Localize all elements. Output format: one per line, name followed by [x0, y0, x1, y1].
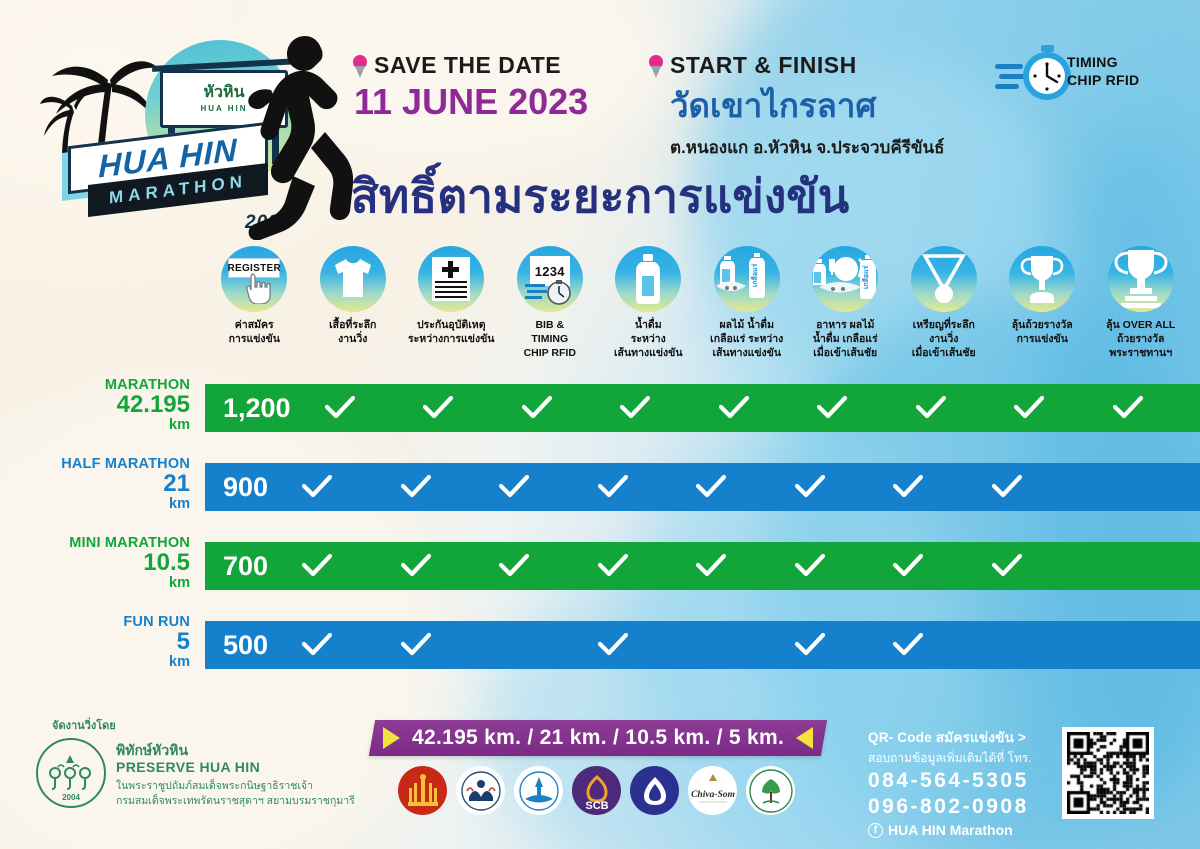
race-distance: 42.195	[10, 393, 190, 418]
benefit-column-label: อาหาร ผลไม้น้ำดื่ม เกลือแร่เมื่อเข้าเส้น…	[790, 319, 900, 361]
benefit-cell	[465, 475, 564, 499]
facebook-link[interactable]: f HUA HIN Marathon	[868, 822, 1032, 838]
timing-chip-badge: TIMING CHIP RFID	[995, 42, 1180, 112]
race-row: HALF MARATHON21km900	[0, 463, 1200, 511]
benefit-cell	[268, 554, 367, 578]
svg-text:SCB: SCB	[585, 800, 608, 812]
checkmark-icon	[401, 475, 431, 499]
benefit-column-11: FINISHERFINISHERRACE SHIRT	[1190, 246, 1200, 376]
food-finish-icon: เกลือแร่	[812, 246, 878, 312]
checkmark-icon	[620, 396, 650, 420]
benefit-cell	[958, 633, 1057, 657]
checkmark-icon	[916, 396, 946, 420]
register-icon: REGISTER	[221, 246, 287, 312]
benefit-cell	[662, 554, 761, 578]
benefit-cell	[1177, 396, 1200, 420]
benefit-cell	[882, 396, 981, 420]
race-name: FUN RUN	[10, 615, 190, 630]
hua-hin-municipality-logo	[514, 766, 563, 815]
contact-info-label: สอบถามข้อมูลเพิ่มเติมได้ที่ โทร.	[868, 749, 1032, 768]
checkmark-icon	[992, 475, 1022, 499]
checkmark-icon	[401, 633, 431, 657]
timing-chip-line1: TIMING	[1067, 54, 1139, 72]
checkmark-icon	[795, 554, 825, 578]
water-bottle-icon	[615, 246, 681, 312]
benefit-column-label: ค่าสมัครการแข่งขัน	[199, 319, 309, 347]
race-label: HALF MARATHON21km	[10, 457, 190, 512]
patronage-line-2: กรมสมเด็จพระเทพรัตนราชสุดาฯ สยามบรมราชกุ…	[116, 794, 355, 809]
benefit-cell	[465, 633, 564, 657]
checkmark-icon	[423, 396, 453, 420]
save-the-date-label: SAVE THE DATE	[352, 52, 588, 79]
race-bar: 500	[205, 621, 1200, 669]
bib-stopwatch-icon	[525, 280, 577, 306]
checkmark-icon	[325, 396, 355, 420]
svg-text:เกลือแร่: เกลือแร่	[751, 263, 759, 287]
trophy-icon	[1009, 246, 1075, 312]
benefit-column-label: ผลไม้ น้ำดื่มเกลือแร่ ระหว่างเส้นทางแข่ง…	[692, 319, 802, 361]
triangle-right-icon	[383, 727, 400, 749]
checkmark-icon	[302, 475, 332, 499]
checkmark-icon	[893, 633, 923, 657]
benefit-cell	[1079, 396, 1178, 420]
map-pin-icon	[648, 55, 664, 79]
qr-code-label: QR- Code สมัครแข่งขัน >	[868, 726, 1032, 748]
benefit-cell	[564, 475, 663, 499]
seal-year: 2004	[62, 793, 80, 802]
benefit-cell	[586, 396, 685, 420]
pointing-hand-icon	[241, 272, 271, 304]
thai-script-seal-icon	[44, 753, 98, 793]
checkmark-icon	[499, 475, 529, 499]
checkmark-icon	[719, 396, 749, 420]
checkmark-icon	[598, 633, 628, 657]
phone-number-2[interactable]: 096-802-0908	[868, 794, 1032, 820]
organizer-block: จัดงานวิ่งโดย 2004 พิทักษ์หัวหิน PRESERV…	[36, 716, 386, 809]
benefit-cell	[367, 633, 466, 657]
checkmark-icon	[893, 475, 923, 499]
rakluke-forest-logo	[746, 766, 795, 815]
benefit-cell	[367, 554, 466, 578]
benefit-column-label: น้ำดื่มระหว่างเส้นทางแข่งขัน	[593, 319, 703, 361]
benefit-column-4: 1234 BIB &TIMINGCHIP RFID	[501, 246, 600, 376]
benefit-cell	[1155, 554, 1200, 578]
benefit-column-label: ลุ้น OVER ALLถ้วยรางวัลพระราชทานฯ	[1086, 319, 1196, 361]
race-bar: 700	[205, 542, 1200, 590]
facebook-page-name: HUA HIN Marathon	[888, 822, 1013, 838]
race-price: 500	[205, 630, 268, 661]
benefit-column-2: เสื้อที่ระลึกงานวิ่ง	[304, 246, 403, 376]
benefit-cell	[958, 475, 1057, 499]
race-label: MARATHON42.195km	[10, 378, 190, 433]
benefit-cell	[761, 475, 860, 499]
benefit-cell	[268, 633, 367, 657]
benefit-cell	[1056, 554, 1155, 578]
race-distance: 5	[10, 630, 190, 655]
checkmark-icon	[992, 554, 1022, 578]
overall-trophy-icon	[1108, 246, 1174, 312]
contact-block: QR- Code สมัครแข่งขัน > สอบถามข้อมูลเพิ่…	[868, 726, 1032, 838]
benefit-cell	[662, 633, 761, 657]
distance-banner: 42.195 km. / 21 km. / 10.5 km. / 5 km.	[369, 720, 827, 756]
benefit-cell	[662, 475, 761, 499]
tshirt-icon	[320, 246, 386, 312]
benefit-column-label: ประกันอุบัติเหตุระหว่างการแข่งขัน	[396, 319, 506, 347]
preserve-hua-hin-seal: 2004	[36, 738, 106, 808]
race-label: FUN RUN5km	[10, 615, 190, 670]
distance-banner-text: 42.195 km. / 21 km. / 10.5 km. / 5 km.	[412, 726, 784, 750]
patronage-line-1: ในพระราชูปถัมภ์สมเด็จพระกนิษฐาธิราชเจ้า	[116, 779, 355, 794]
water-bottle-icon	[630, 254, 666, 304]
race-bar: 1,200	[205, 384, 1200, 432]
bib-timing-icon: 1234	[517, 246, 583, 312]
insurance-doc-icon	[418, 246, 484, 312]
race-price: 900	[205, 472, 268, 503]
start-finish-block: START & FINISH วัดเขาไกรลาศ ต.หนองแก อ.ห…	[648, 52, 944, 161]
checkmark-icon	[696, 554, 726, 578]
checkmark-icon	[598, 475, 628, 499]
benefit-column-3: ประกันอุบัติเหตุระหว่างการแข่งขัน	[402, 246, 501, 376]
venue-address: ต.หนองแก อ.หัวหิน จ.ประจวบคีรีขันธ์	[670, 134, 944, 161]
phone-number-1[interactable]: 084-564-5305	[868, 768, 1032, 794]
organizer-by-label: จัดงานวิ่งโดย	[52, 716, 386, 734]
race-distance: 21	[10, 472, 190, 497]
venue-name: วัดเขาไกรลาศ	[670, 79, 944, 132]
event-date: 11 JUNE 2023	[354, 81, 588, 123]
benefit-column-8: เหรียญที่ระลึกงานวิ่งเมื่อเข้าเส้นชัย	[895, 246, 994, 376]
benefit-cell	[488, 396, 587, 420]
benefit-cell	[980, 396, 1079, 420]
race-row: MARATHON42.195km1,200	[0, 384, 1200, 432]
prachuap-province-logo	[456, 766, 505, 815]
checkmark-icon	[598, 554, 628, 578]
race-row: FUN RUN5km500	[0, 621, 1200, 669]
food-at-finish-icon: เกลือแร่	[813, 253, 877, 305]
checkmark-icon	[401, 554, 431, 578]
checkmark-icon	[893, 554, 923, 578]
benefit-cell	[1155, 475, 1200, 499]
benefit-cell	[465, 554, 564, 578]
benefit-cell	[1056, 475, 1155, 499]
benefit-column-label: เหรียญที่ระลึกงานวิ่งเมื่อเข้าเส้นชัย	[889, 319, 999, 361]
benefit-cell	[564, 554, 663, 578]
benefit-cell	[268, 475, 367, 499]
medal-icon	[921, 254, 967, 304]
checkmark-icon	[795, 475, 825, 499]
checkmark-icon	[302, 633, 332, 657]
benefit-column-label: BIB &TIMINGCHIP RFID	[495, 319, 605, 361]
benefit-column-9: ลุ้นถ้วยรางวัลการแข่งขัน	[993, 246, 1092, 376]
checkmark-icon	[499, 554, 529, 578]
poster-footer: จัดงานวิ่งโดย 2004 พิทักษ์หัวหิน PRESERV…	[0, 700, 1200, 849]
race-distance-unit: km	[10, 418, 190, 433]
benefit-column-5: น้ำดื่มระหว่างเส้นทางแข่งขัน	[599, 246, 698, 376]
benefit-cell	[783, 396, 882, 420]
benefit-column-label: FINISHERRACE SHIRT	[1184, 319, 1200, 347]
timing-chip-line2: CHIP RFID	[1067, 72, 1139, 90]
organizer-name-english: PRESERVE HUA HIN	[116, 759, 355, 776]
benefit-cell	[685, 396, 784, 420]
medal-icon	[911, 246, 977, 312]
facebook-icon: f	[868, 823, 883, 838]
benefit-column-1: REGISTER ค่าสมัครการแข่งขัน	[205, 246, 304, 376]
race-row: MINI MARATHON10.5km700	[0, 542, 1200, 590]
benefit-column-7: เกลือแร่อาหาร ผลไม้น้ำดื่ม เกลือแร่เมื่อ…	[796, 246, 895, 376]
qr-code[interactable]	[1062, 727, 1154, 819]
chiva-som-logo: Chiva-Som	[688, 766, 737, 815]
trophy-icon	[1019, 254, 1065, 304]
benefit-cell	[564, 633, 663, 657]
benefit-column-10: ลุ้น OVER ALLถ้วยรางวัลพระราชทานฯ	[1092, 246, 1191, 376]
scb-logo: SCB	[572, 766, 621, 815]
race-distance-unit: km	[10, 655, 190, 670]
race-price: 1,200	[205, 393, 291, 424]
benefit-cell	[859, 475, 958, 499]
race-label: MINI MARATHON10.5km	[10, 536, 190, 591]
start-finish-label: START & FINISH	[648, 52, 944, 79]
benefit-cell	[1155, 633, 1200, 657]
fruit-water-salt-icon: เกลือแร่	[714, 246, 780, 312]
page-title: สิทธิ์ตามระยะการแข่งขัน	[0, 160, 1200, 233]
sponsor-logos: SCBChiva-Som	[398, 766, 795, 815]
race-distance: 10.5	[10, 551, 190, 576]
checkmark-icon	[522, 396, 552, 420]
benefit-cell	[389, 396, 488, 420]
checkmark-icon	[1113, 396, 1143, 420]
benefit-cell	[291, 396, 390, 420]
fruit-water-salt-icon: เกลือแร่	[716, 253, 778, 305]
save-the-date-block: SAVE THE DATE 11 JUNE 2023	[352, 52, 588, 123]
svg-text:เกลือแร่: เกลือแร่	[862, 265, 870, 289]
checkmark-icon	[1014, 396, 1044, 420]
benefit-cell	[859, 633, 958, 657]
race-bar: 900	[205, 463, 1200, 511]
benefit-cell	[761, 633, 860, 657]
checkmark-icon	[302, 554, 332, 578]
checkmark-icon	[817, 396, 847, 420]
benefit-column-6: เกลือแร่ผลไม้ น้ำดื่มเกลือแร่ ระหว่างเส้…	[698, 246, 797, 376]
map-pin-icon	[352, 55, 368, 79]
checkmark-icon	[795, 633, 825, 657]
poster-header: หัวหิน HUA HIN HUA HIN MARATHON 2023 SAV…	[0, 0, 1200, 240]
triangle-left-icon	[796, 727, 813, 749]
benefit-cell	[859, 554, 958, 578]
benefit-cell	[1056, 633, 1155, 657]
benefit-cell	[761, 554, 860, 578]
benefit-cell	[958, 554, 1057, 578]
overall-royal-trophy-icon	[1112, 250, 1170, 308]
race-distance-unit: km	[10, 497, 190, 512]
benefit-column-label: เสื้อที่ระลึกงานวิ่ง	[298, 319, 408, 347]
royal-emblem-logo	[398, 766, 447, 815]
benefit-columns-header: REGISTER ค่าสมัครการแข่งขัน เสื้อที่ระลึ…	[205, 246, 1190, 376]
bangchak-logo	[630, 766, 679, 815]
stopwatch-icon	[995, 42, 1075, 104]
benefit-cell	[367, 475, 466, 499]
organizer-name-thai: พิทักษ์หัวหิน	[116, 742, 355, 759]
race-distance-unit: km	[10, 576, 190, 591]
tshirt-icon	[329, 255, 377, 303]
insurance-document-icon	[432, 257, 470, 301]
checkmark-icon	[696, 475, 726, 499]
race-benefit-table: MARATHON42.195km1,200	[0, 384, 1200, 674]
svg-text:Chiva-Som: Chiva-Som	[691, 790, 735, 800]
benefit-column-label: ลุ้นถ้วยรางวัลการแข่งขัน	[987, 319, 1097, 347]
race-price: 700	[205, 551, 268, 582]
